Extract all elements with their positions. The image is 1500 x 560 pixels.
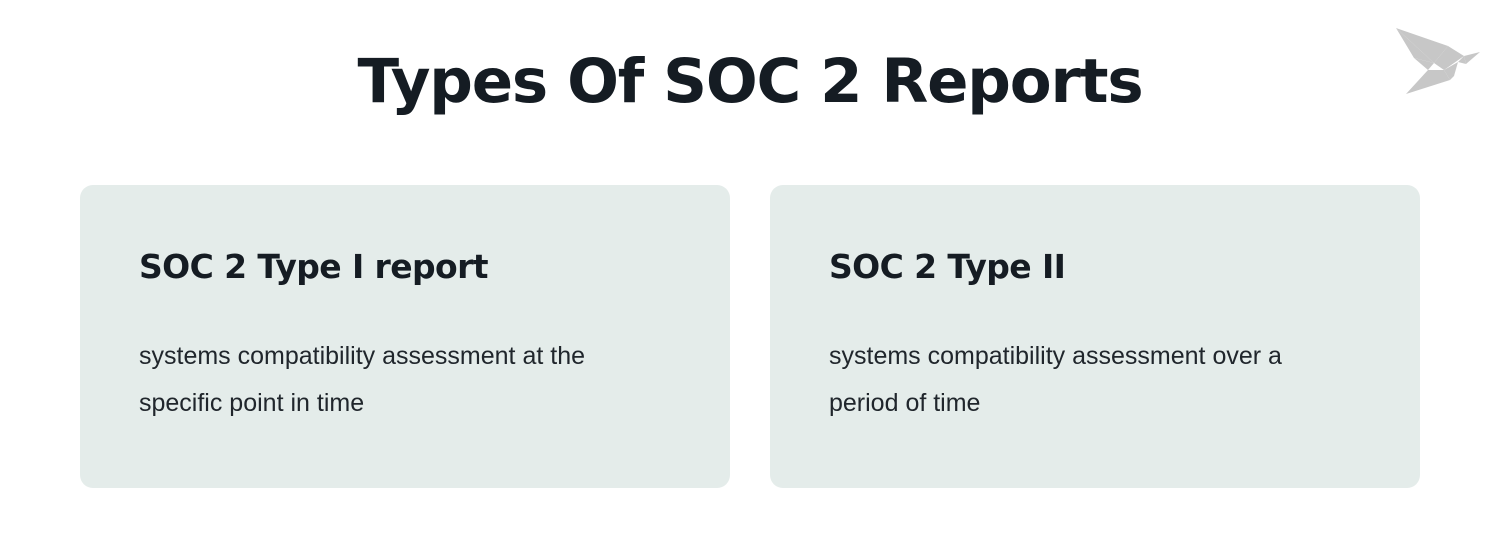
card-body-text: systems compatibility assessment at the … — [139, 333, 659, 427]
card-heading: SOC 2 Type II — [829, 247, 1364, 287]
report-type-cards: SOC 2 Type I report systems compatibilit… — [80, 185, 1420, 488]
card-soc2-type-2: SOC 2 Type II systems compatibility asse… — [770, 185, 1420, 488]
card-body-text: systems compatibility assessment over a … — [829, 333, 1349, 427]
page-title: Types Of SOC 2 Reports — [0, 46, 1500, 118]
card-heading: SOC 2 Type I report — [139, 247, 674, 287]
card-soc2-type-1: SOC 2 Type I report systems compatibilit… — [80, 185, 730, 488]
